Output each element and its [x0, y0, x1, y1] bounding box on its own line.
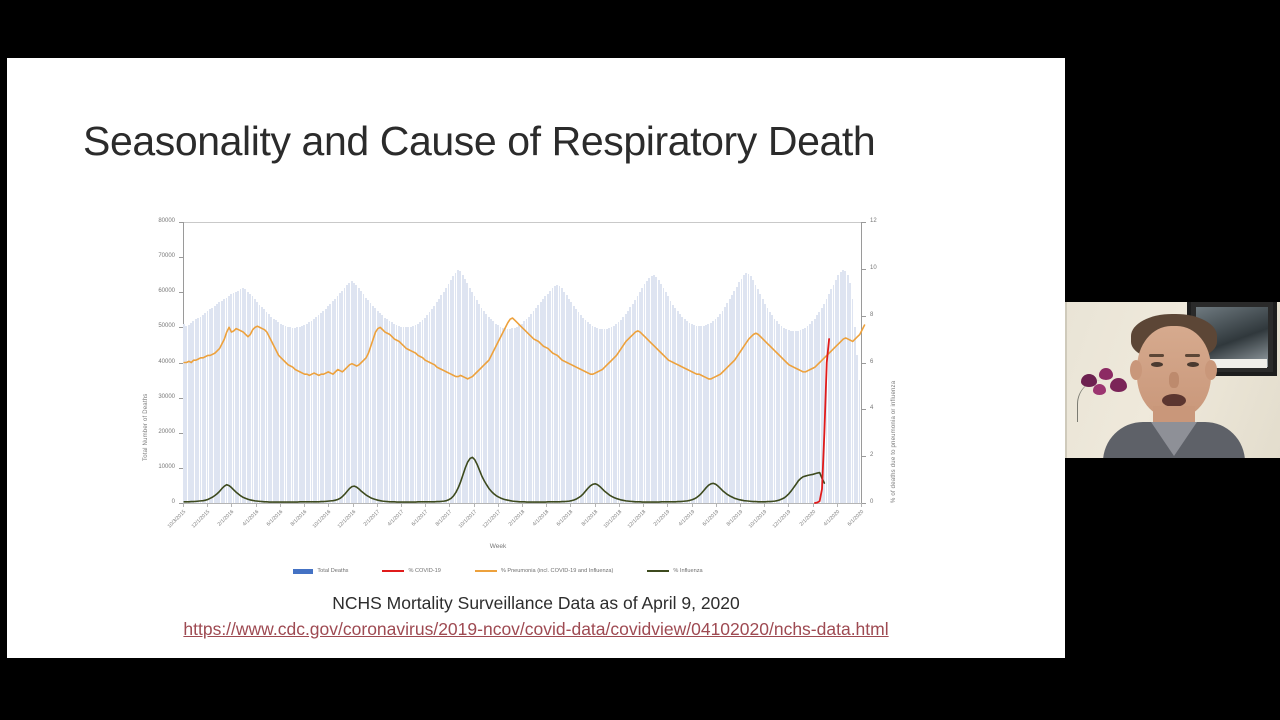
legend-label: % Pneumonia (incl. COVID-19 and Influenz…	[501, 568, 614, 574]
y-tick-label-right: 0	[870, 499, 886, 505]
x-tick	[474, 504, 475, 507]
legend-item: % Influenza	[647, 568, 702, 574]
y-tick-right	[862, 409, 866, 410]
covid-line	[815, 339, 829, 503]
x-tick	[328, 504, 329, 507]
orchid-bloom	[1110, 378, 1127, 392]
x-tick	[183, 504, 184, 507]
y-tick-right	[862, 316, 866, 317]
orchid-bloom	[1093, 384, 1106, 395]
x-axis-title: Week	[135, 543, 861, 550]
x-tick	[740, 504, 741, 507]
y-tick-right	[862, 456, 866, 457]
page-title: Seasonality and Cause of Respiratory Dea…	[83, 118, 983, 165]
x-tick	[256, 504, 257, 507]
y-tick-right	[862, 269, 866, 270]
x-tick	[813, 504, 814, 507]
y-tick-label-left: 20000	[141, 429, 175, 435]
legend-item: Total Deaths	[293, 568, 348, 574]
y-tick-label-left: 50000	[141, 323, 175, 329]
webcam-video-tile[interactable]	[1065, 302, 1280, 458]
legend-swatch-icon	[647, 570, 669, 573]
x-tick	[692, 504, 693, 507]
y-tick-label-right: 10	[870, 265, 886, 271]
y-tick-label-right: 6	[870, 359, 886, 365]
line-series-layer	[183, 222, 861, 503]
person-nose	[1169, 372, 1179, 388]
x-tick	[304, 504, 305, 507]
x-tick	[377, 504, 378, 507]
y-tick-label-right: 12	[870, 218, 886, 224]
chart-legend: Total Deaths% COVID-19% Pneumonia (incl.…	[135, 568, 861, 574]
x-tick	[837, 504, 838, 507]
y-tick-label-right: 4	[870, 405, 886, 411]
legend-swatch-icon	[382, 570, 404, 573]
source-link[interactable]: https://www.cdc.gov/coronavirus/2019-nco…	[7, 619, 1065, 640]
x-tick	[619, 504, 620, 507]
x-tick	[716, 504, 717, 507]
y-tick-right	[862, 503, 866, 504]
person-eye-left	[1151, 362, 1163, 367]
y-tick-label-left: 0	[141, 499, 175, 505]
x-tick	[667, 504, 668, 507]
y-tick-label-left: 10000	[141, 464, 175, 470]
x-tick	[764, 504, 765, 507]
y-axis-label-right: % of deaths due to pneumonia or influenz…	[891, 381, 897, 503]
y-tick-right	[862, 363, 866, 364]
x-tick	[788, 504, 789, 507]
influenza-line	[184, 457, 824, 502]
respiratory-death-chart: Total Number of Deaths % of deaths due t…	[135, 213, 925, 563]
legend-swatch-icon	[293, 569, 313, 574]
legend-swatch-icon	[475, 570, 497, 573]
person-eyebrow-left	[1149, 354, 1164, 357]
y-tick-label-right: 8	[870, 312, 886, 318]
legend-label: % Influenza	[673, 568, 702, 574]
legend-item: % Pneumonia (incl. COVID-19 and Influenz…	[475, 568, 614, 574]
x-tick	[546, 504, 547, 507]
x-tick	[498, 504, 499, 507]
x-tick	[449, 504, 450, 507]
presentation-slide: Seasonality and Cause of Respiratory Dea…	[7, 58, 1065, 658]
chart-caption: NCHS Mortality Surveillance Data as of A…	[7, 593, 1065, 614]
video-player-screen: Seasonality and Cause of Respiratory Dea…	[0, 0, 1280, 720]
legend-label: Total Deaths	[317, 568, 348, 574]
y-tick-label-left: 70000	[141, 253, 175, 259]
x-tick	[425, 504, 426, 507]
x-tick	[353, 504, 354, 507]
x-tick	[861, 504, 862, 507]
x-tick	[280, 504, 281, 507]
y-tick-label-left: 30000	[141, 394, 175, 400]
y-tick-label-left: 60000	[141, 288, 175, 294]
y-axis-label-left: Total Number of Deaths	[143, 394, 149, 461]
x-tick	[401, 504, 402, 507]
y-tick-label-right: 2	[870, 452, 886, 458]
person-ear-left	[1130, 360, 1142, 380]
x-tick	[570, 504, 571, 507]
legend-label: % COVID-19	[408, 568, 440, 574]
y-tick-label-left: 80000	[141, 218, 175, 224]
pneumonia-line	[184, 318, 864, 379]
legend-item: % COVID-19	[382, 568, 440, 574]
person-eye-right	[1187, 362, 1199, 367]
orchid-bloom	[1099, 368, 1113, 380]
x-tick	[643, 504, 644, 507]
x-tick	[595, 504, 596, 507]
x-tick	[207, 504, 208, 507]
x-tick	[522, 504, 523, 507]
x-tick	[231, 504, 232, 507]
webcam-tile-edge	[1065, 302, 1067, 458]
y-tick-label-left: 40000	[141, 359, 175, 365]
person-ear-right	[1205, 360, 1217, 380]
person-eyebrow-right	[1185, 354, 1200, 357]
y-tick-right	[862, 222, 866, 223]
plot-area	[183, 222, 861, 503]
